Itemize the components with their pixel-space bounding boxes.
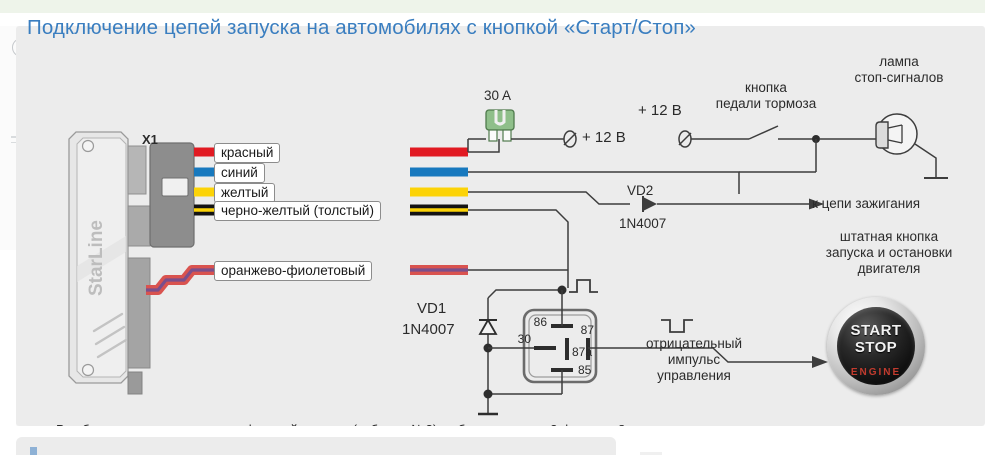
brake-lamp-label-line2: стоп-сигналов xyxy=(834,70,964,86)
stock-button-label-line2: запуска и остановки xyxy=(794,245,984,261)
negative-pulse-icon xyxy=(661,320,693,332)
wire-label-black-yellow: черно-желтый (толстый) xyxy=(214,201,381,221)
stock-button-label-line3: двигателя xyxy=(794,261,984,277)
fuse-30a xyxy=(468,110,564,152)
start-stop-button-face: START STOP ENGINE xyxy=(837,307,915,385)
vd2-label: VD2 xyxy=(627,183,653,199)
positive-pulse-icon xyxy=(569,280,598,292)
brake-lamp-label-line1: лампа xyxy=(834,54,964,70)
screenshot-root: Подключение цепей запуска на автомобилях… xyxy=(0,0,985,455)
engine-label: ENGINE xyxy=(837,367,915,378)
starline-brand-text: StarLine xyxy=(86,220,107,296)
brake-lamp-icon xyxy=(858,114,948,178)
start-stop-button[interactable]: START STOP ENGINE xyxy=(827,297,925,395)
next-article-card[interactable] xyxy=(16,437,616,455)
ring-terminal-fuse xyxy=(564,131,576,147)
supply-label-brake: + 12 В xyxy=(638,103,682,119)
supply-label-fuse: + 12 В xyxy=(582,130,626,146)
wire-label-orange-violet: оранжево-фиолетовый xyxy=(214,261,372,281)
pulse-label-line3: управления xyxy=(594,368,794,384)
fuse-rating-label: 30 A xyxy=(484,88,511,104)
wire-label-red: красный xyxy=(214,143,280,163)
nav-rail-divider xyxy=(0,250,16,433)
relay-terminal-86: 86 xyxy=(534,315,548,329)
brake-switch-label-line1: кнопка xyxy=(704,80,828,96)
relay-terminal-85: 85 xyxy=(578,363,592,377)
connector-label-x1: X1 xyxy=(142,132,158,148)
wire-label-blue: синий xyxy=(214,163,265,183)
next-article-marker xyxy=(30,447,37,455)
relay-terminal-30: 30 xyxy=(518,332,532,346)
start-label: START xyxy=(837,322,915,339)
pulse-label-line2: импульс xyxy=(594,352,794,368)
vd1-label: VD1 xyxy=(417,301,446,317)
vd1-diode xyxy=(479,320,497,334)
vd1-part-label: 1N4007 xyxy=(402,322,455,338)
browser-top-band xyxy=(0,0,985,13)
relay-terminal-87a: 87a xyxy=(572,345,592,359)
ring-terminal-brake xyxy=(679,131,749,147)
stop-label: STOP xyxy=(837,339,915,356)
pulse-label-line1: отрицательный xyxy=(594,336,794,352)
brake-switch-label-line2: педали тормоза xyxy=(704,96,828,112)
start-stop-button-text: START STOP xyxy=(837,322,915,356)
card-bottom-gap xyxy=(0,426,985,437)
ignition-arrow-label: к цепи зажигания xyxy=(812,196,920,212)
stock-button-label-line1: штатная кнопка xyxy=(794,229,984,245)
starline-module: StarLine xyxy=(69,132,128,383)
wire-label-yellow: желтый xyxy=(214,183,275,203)
vd2-part-label: 1N4007 xyxy=(619,216,666,232)
relay-terminal-87: 87 xyxy=(581,323,595,337)
brake-pedal-switch xyxy=(749,126,816,139)
junction-node-vd1-low xyxy=(484,390,493,399)
